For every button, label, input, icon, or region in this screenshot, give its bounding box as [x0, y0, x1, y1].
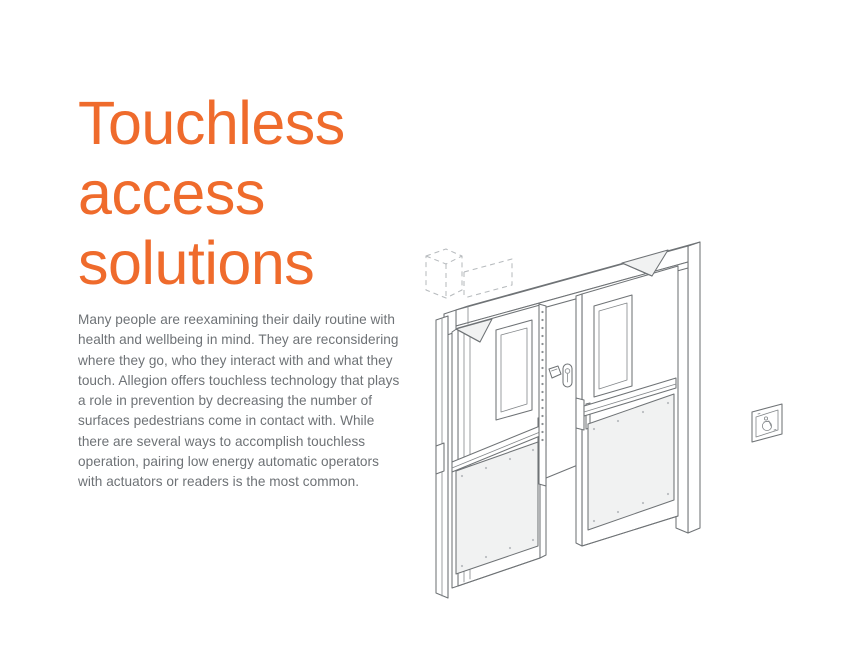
- body-copy-block: Many people are reexamining their daily …: [78, 310, 400, 493]
- door-frame-left-jamb: [436, 316, 448, 598]
- headline-block: Touchless access solutions: [78, 88, 408, 298]
- lock-cylinder: [563, 364, 572, 387]
- ghost-operator-box: [426, 249, 512, 298]
- wall-actuator[interactable]: [752, 404, 782, 442]
- card-reader[interactable]: [549, 366, 561, 378]
- door-illustration-svg: .ln { fill:none; stroke:#6f7376; stroke-…: [400, 228, 830, 608]
- right-vision-lite: [594, 295, 632, 397]
- left-door-leaf: [452, 305, 546, 588]
- body-paragraph: Many people are reexamining their daily …: [78, 310, 400, 493]
- door-illustration: .ln { fill:none; stroke:#6f7376; stroke-…: [400, 228, 830, 608]
- right-door-leaf: [576, 250, 678, 546]
- left-vision-lite: [496, 320, 532, 420]
- slide-canvas: Touchless access solutions Many people a…: [0, 0, 850, 661]
- door-frame-right-jamb: [676, 242, 700, 533]
- page-title: Touchless access solutions: [78, 88, 408, 298]
